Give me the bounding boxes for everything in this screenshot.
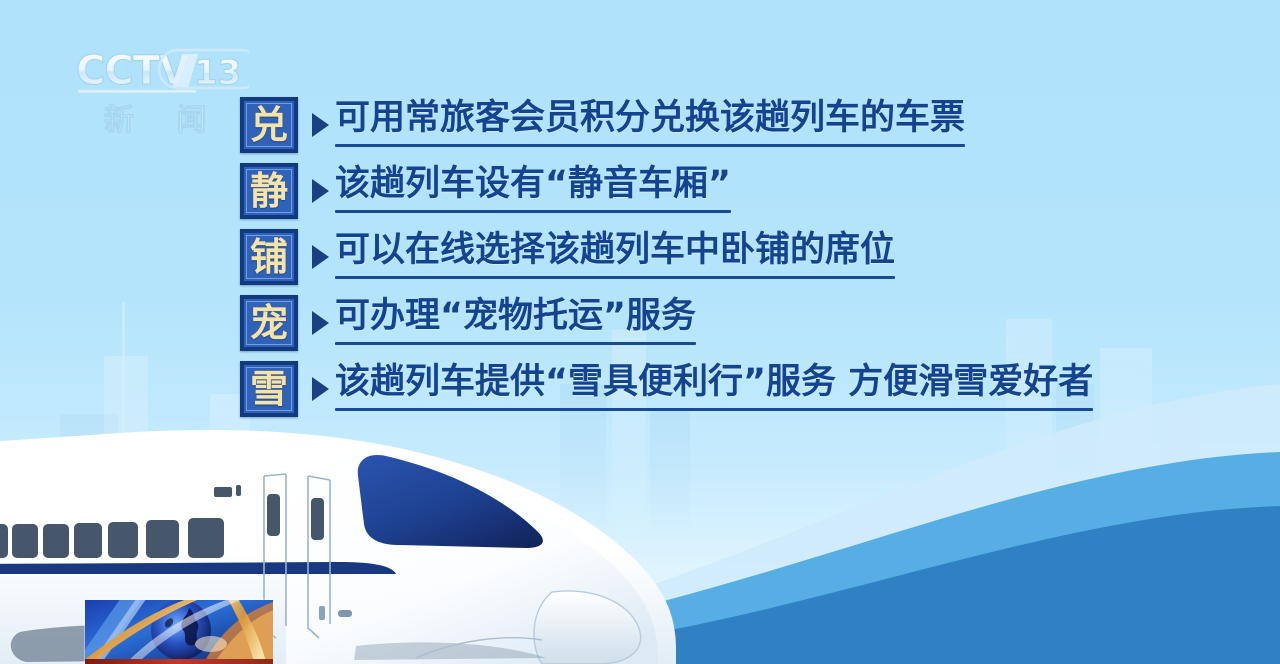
bug-bottom-strip: [85, 659, 273, 664]
list-item-text-wrap: 可以在线选择该趟列车中卧铺的席位: [335, 231, 895, 282]
broadcast-graphic-screen: CCTV 13 新 闻 兑 可用常旅客会员积分兑换该趟列车的车票: [0, 0, 1280, 664]
badge-keyword: 铺: [240, 229, 298, 285]
badge-char: 宠: [250, 304, 288, 342]
logo-subtitle-text: 新 闻: [104, 103, 222, 138]
underline-rule: [335, 276, 895, 279]
list-item-text: 可以在线选择该趟列车中卧铺的席位: [335, 230, 895, 270]
underline-rule: [335, 144, 965, 147]
list-item-text-wrap: 该趟列车提供“雪具便利行”服务 方便滑雪爱好者: [335, 363, 1093, 414]
cctv13-news-logo: CCTV 13 新 闻: [74, 44, 249, 140]
triangle-right-icon: [312, 113, 329, 137]
list-item: 静 该趟列车设有“静音车厢”: [240, 158, 1250, 224]
list-item-text: 该趟列车提供“雪具便利行”服务 方便滑雪爱好者: [335, 362, 1093, 402]
list-item: 铺 可以在线选择该趟列车中卧铺的席位: [240, 224, 1250, 290]
badge-keyword: 兑: [240, 97, 298, 153]
badge-char: 铺: [250, 238, 288, 276]
badge-char: 静: [250, 172, 288, 210]
triangle-right-icon: [312, 245, 329, 269]
list-item: 宠 可办理“宠物托运”服务: [240, 290, 1250, 356]
triangle-right-icon: [312, 377, 329, 401]
badge-char: 雪: [250, 370, 288, 408]
list-item-text-wrap: 可用常旅客会员积分兑换该趟列车的车票: [335, 99, 965, 150]
badge-char: 兑: [250, 106, 288, 144]
list-item-text-wrap: 该趟列车设有“静音车厢”: [335, 165, 731, 216]
list-item-text: 可办理“宠物托运”服务: [335, 296, 696, 336]
underline-rule: [335, 408, 1093, 411]
badge-keyword: 雪: [240, 361, 298, 417]
badge-keyword: 宠: [240, 295, 298, 351]
badge-keyword: 静: [240, 163, 298, 219]
news-globe-bug: [85, 600, 273, 664]
triangle-right-icon: [312, 311, 329, 335]
list-item-text: 可用常旅客会员积分兑换该趟列车的车票: [335, 98, 965, 138]
underline-rule: [335, 210, 731, 213]
list-item-text: 该趟列车设有“静音车厢”: [335, 164, 731, 204]
feature-list: 兑 可用常旅客会员积分兑换该趟列车的车票 静 该趟列车设有“静音车厢” 铺: [240, 92, 1250, 422]
list-item-text-wrap: 可办理“宠物托运”服务: [335, 297, 696, 348]
list-item: 兑 可用常旅客会员积分兑换该趟列车的车票: [240, 92, 1250, 158]
list-item: 雪 该趟列车提供“雪具便利行”服务 方便滑雪爱好者: [240, 356, 1250, 422]
underline-rule: [335, 342, 696, 345]
triangle-right-icon: [312, 179, 329, 203]
